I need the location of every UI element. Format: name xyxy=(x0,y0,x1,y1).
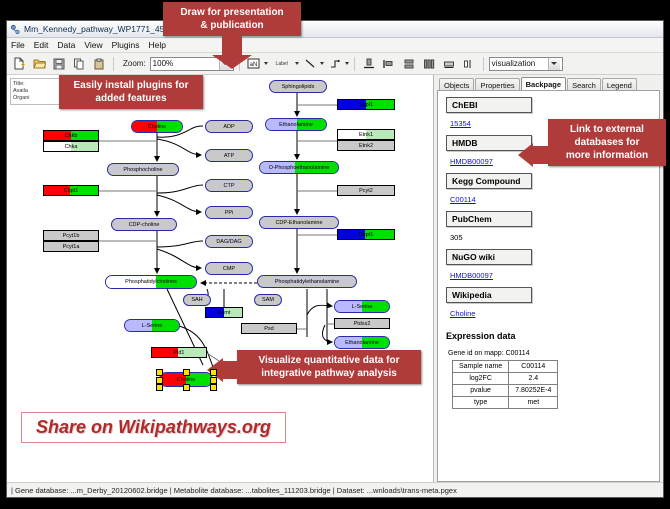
metabolite-node-sah[interactable]: SAH xyxy=(183,294,211,306)
stack-icon[interactable] xyxy=(400,55,418,73)
callout-plugins-line2: added features xyxy=(67,92,195,105)
node-label: Psd xyxy=(264,326,273,332)
callout-plugins-line1: Easily install plugins for xyxy=(67,79,195,92)
gene-node-chkb[interactable]: Chkb xyxy=(43,130,99,141)
gene-id-line: Gene id on mapp: C00114 xyxy=(448,350,653,357)
db-link-wikipedia[interactable]: Choline xyxy=(450,309,475,318)
db-value-pubchem: 305 xyxy=(450,233,463,242)
expr-key-sample-name: Sample name xyxy=(453,361,509,373)
chevron-down-icon[interactable] xyxy=(320,62,324,65)
gene-node-cept1[interactable]: Cept1 xyxy=(337,229,395,240)
distribute-icon[interactable] xyxy=(420,55,438,73)
tab-backpage[interactable]: Backpage xyxy=(521,77,566,91)
toolbar-separator xyxy=(113,57,114,71)
metabolite-node-ppi[interactable]: PPi xyxy=(205,206,253,219)
menu-file[interactable]: File xyxy=(11,40,25,50)
table-row: pvalue 7.80252E-4 xyxy=(453,385,558,397)
gene-node-sgpl1[interactable]: Sgpl1 xyxy=(337,99,395,110)
visualization-value: visualization xyxy=(492,59,548,68)
db-link-kegg[interactable]: C00114 xyxy=(450,195,476,204)
db-link-chebi[interactable]: 15354 xyxy=(450,119,471,128)
node-label: Pcyt1b xyxy=(63,233,80,239)
group-icon[interactable] xyxy=(440,55,458,73)
db-header-chebi: ChEBI xyxy=(446,97,532,113)
node-label: Phosphatidylethanolamine xyxy=(275,279,340,285)
statusbar-text: | Gene database: ...m_Derby_20120602.bri… xyxy=(11,486,457,495)
metabolite-node-o_phosphoethanolamine[interactable]: O-Phosphoethanolamine xyxy=(259,161,339,174)
gene-node-chka[interactable]: Chka xyxy=(43,141,99,152)
toolbar: Zoom: 100% aN Label xyxy=(7,53,663,75)
gene-node-pcyt2[interactable]: Pcyt2 xyxy=(337,185,395,196)
label-icon[interactable]: Label xyxy=(270,55,294,73)
metabolite-node-phosphatidylethanolamine[interactable]: Phosphatidylethanolamine xyxy=(257,275,357,288)
chevron-down-icon[interactable] xyxy=(548,58,560,70)
save-icon[interactable] xyxy=(50,55,68,73)
menu-help[interactable]: Help xyxy=(149,40,166,50)
menu-data[interactable]: Data xyxy=(57,40,75,50)
metabolite-node-cdp_choline[interactable]: CDP-choline xyxy=(111,218,177,231)
node-label: Sphingolipids xyxy=(282,84,315,90)
align-left-icon[interactable] xyxy=(380,55,398,73)
node-label: L-Serine xyxy=(352,304,373,310)
node-label: PPi xyxy=(225,210,234,216)
zoom-value: 100% xyxy=(153,59,219,68)
metabolite-node-sam[interactable]: SAM xyxy=(254,294,282,306)
line-icon[interactable] xyxy=(301,55,319,73)
share-banner-text: Share on Wikipathways.org xyxy=(36,417,271,437)
pathway-canvas[interactable]: Title: Availa Organi xyxy=(7,75,434,482)
gene-node-etnk1[interactable]: Etnk1 xyxy=(337,129,395,140)
selection-handle[interactable] xyxy=(156,384,163,391)
new-file-icon[interactable] xyxy=(10,55,28,73)
node-label: O-Phosphoethanolamine xyxy=(269,165,330,171)
open-folder-icon[interactable] xyxy=(30,55,48,73)
node-label: ATP xyxy=(224,153,234,159)
node-label: Phosphocholine xyxy=(123,167,162,173)
metabolite-node-adp[interactable]: ADP xyxy=(205,120,253,133)
gene-node-ptdss2[interactable]: Ptdss2 xyxy=(334,318,390,329)
table-row: type met xyxy=(453,397,558,409)
selection-handle[interactable] xyxy=(183,384,190,391)
node-label: Choline xyxy=(148,124,167,130)
gene-node-psd[interactable]: Psd xyxy=(241,323,297,334)
metabolite-node-cdp_ethanolamine[interactable]: CDP-Ethanolamine xyxy=(259,216,339,229)
pathvisio-window: Mm_Kennedy_pathway_WP1771_45176.gpml Fil… xyxy=(6,20,664,498)
callout-link-line2: databases for xyxy=(556,136,658,149)
metabolite-node-l_serine_left[interactable]: L-Serine xyxy=(124,319,180,332)
expr-key-log2fc: log2FC xyxy=(453,373,509,385)
selection-handle[interactable] xyxy=(210,377,217,384)
gene-node-pld1[interactable]: Pld1 xyxy=(151,347,207,358)
expr-val-pvalue: 7.80252E-4 xyxy=(509,385,558,397)
paste-icon[interactable] xyxy=(90,55,108,73)
callout-visualize-line2: integrative pathway analysis xyxy=(245,367,413,380)
node-label: Etnk1 xyxy=(359,132,373,138)
menu-view[interactable]: View xyxy=(84,40,102,50)
chevron-down-icon[interactable] xyxy=(295,62,299,65)
connector-icon[interactable] xyxy=(326,55,344,73)
toolbar-separator-3 xyxy=(354,57,355,71)
expr-val-sample-name: C00114 xyxy=(509,361,558,373)
callout-link-line3: more information xyxy=(556,149,658,162)
selection-handle[interactable] xyxy=(156,369,163,376)
gene-node-pcyt1a[interactable]: Pcyt1a xyxy=(43,241,99,252)
gene-node-pemt[interactable]: Pemt xyxy=(205,307,243,318)
node-label: Pld1 xyxy=(173,350,184,356)
chevron-down-icon[interactable] xyxy=(264,62,268,65)
callout-plugins-arrow-shaft xyxy=(115,75,137,77)
selection-handle[interactable] xyxy=(210,384,217,391)
table-row: Sample name C00114 xyxy=(453,361,558,373)
gene-node-pcyt1b[interactable]: Pcyt1b xyxy=(43,230,99,241)
db-link-nugo[interactable]: HMDB00097 xyxy=(450,271,493,280)
callout-draw: Draw for presentation & publication xyxy=(163,2,301,36)
statusbar: | Gene database: ...m_Derby_20120602.bri… xyxy=(7,482,663,497)
menu-edit[interactable]: Edit xyxy=(34,40,49,50)
db-header-pubchem: PubChem xyxy=(446,211,532,227)
visualization-combo[interactable]: visualization xyxy=(489,57,563,71)
metabolite-node-ethanolamine_bottom[interactable]: Ethanolamine xyxy=(334,336,390,349)
callout-draw-line2: & publication xyxy=(171,19,293,32)
label-icon-text: Label xyxy=(276,61,288,67)
node-label: ADP xyxy=(223,124,234,130)
callout-visualize: Visualize quantitative data for integrat… xyxy=(237,350,421,384)
callout-link: Link to external databases for more info… xyxy=(548,119,666,166)
node-label: CDP-Ethanolamine xyxy=(275,220,322,226)
metabolite-node-sphingolipids[interactable]: Sphingolipids xyxy=(269,80,327,93)
node-label: Choline xyxy=(177,377,196,383)
expression-data-heading: Expression data xyxy=(446,331,653,341)
metabolite-node-ctp[interactable]: CTP xyxy=(205,179,253,192)
node-label: SAH xyxy=(191,297,202,303)
menubar: File Edit Data View Plugins Help xyxy=(7,38,663,53)
metabolite-node-choline_top[interactable]: Choline xyxy=(131,120,183,133)
selection-handle[interactable] xyxy=(210,369,217,376)
node-label: DAG/DAG xyxy=(216,239,241,245)
metabolite-node-cmp[interactable]: CMP xyxy=(205,262,253,275)
expr-key-pvalue: pvalue xyxy=(453,385,509,397)
side-panel-tabs: Objects Properties Backpage Search Legen… xyxy=(437,77,660,91)
expr-val-log2fc: 2.4 xyxy=(509,373,558,385)
expression-table: Sample name C00114 log2FC 2.4 pvalue 7.8… xyxy=(452,360,558,409)
selection-handle[interactable] xyxy=(156,377,163,384)
node-label: Cept1 xyxy=(359,232,374,238)
node-label: Etnk2 xyxy=(359,143,373,149)
callout-link-line1: Link to external xyxy=(556,123,658,136)
node-label: Phosphatidylcholines xyxy=(125,279,177,285)
metabolite-node-l_serine_right[interactable]: L-Serine xyxy=(334,300,390,313)
metabolite-node-phosphatidylcholines[interactable]: Phosphatidylcholines xyxy=(105,275,197,289)
label-dropdown[interactable]: Label xyxy=(270,55,299,73)
node-label: Chka xyxy=(65,144,78,150)
expr-key-type: type xyxy=(453,397,509,409)
node-label: CTP xyxy=(224,183,235,189)
node-label: Chpt1 xyxy=(64,188,79,194)
gene-node-chpt1[interactable]: Chpt1 xyxy=(43,185,99,196)
node-label: SAM xyxy=(262,297,274,303)
callout-draw-line1: Draw for presentation xyxy=(171,6,293,19)
screenshot-root: Mm_Kennedy_pathway_WP1771_45176.gpml Fil… xyxy=(0,0,670,509)
selection-handle[interactable] xyxy=(183,369,190,376)
chevron-down-icon[interactable] xyxy=(345,62,349,65)
node-label: Ptdss2 xyxy=(354,321,371,327)
callout-visualize-arrow-shaft xyxy=(221,361,241,379)
node-label: Ethanolamine xyxy=(345,340,379,346)
align-bottom-icon[interactable] xyxy=(360,55,378,73)
metabolite-node-phosphocholine[interactable]: Phosphocholine xyxy=(107,163,179,176)
metabolite-node-atp[interactable]: ATP xyxy=(205,149,253,162)
connector-dropdown[interactable] xyxy=(326,55,349,73)
node-label: L-Serine xyxy=(142,323,163,329)
window-titlebar: Mm_Kennedy_pathway_WP1771_45176.gpml xyxy=(7,21,663,38)
node-label: Pcyt1a xyxy=(63,244,80,250)
node-label: CMP xyxy=(223,266,235,272)
expr-val-type: met xyxy=(509,397,558,409)
ungroup-icon[interactable] xyxy=(460,55,478,73)
share-banner: Share on Wikipathways.org xyxy=(21,412,286,443)
node-label: CDP-choline xyxy=(129,222,160,228)
db-header-kegg: Kegg Compound xyxy=(446,173,532,189)
gene-node-etnk2[interactable]: Etnk2 xyxy=(337,140,395,151)
callout-draw-arrow-head xyxy=(212,55,252,69)
db-header-nugo: NuGO wiki xyxy=(446,249,532,265)
callout-link-arrow-head xyxy=(518,143,533,167)
metabolite-node-ethanolamine_top[interactable]: Ethanolamine xyxy=(265,118,327,131)
node-label: Ethanolamine xyxy=(279,122,313,128)
pathvisio-icon xyxy=(10,24,20,34)
callout-draw-arrow-shaft xyxy=(222,36,242,56)
node-label: Chkb xyxy=(65,133,78,139)
callout-plugins: Easily install plugins for added feature… xyxy=(59,75,203,109)
node-label: Pemt xyxy=(218,310,231,316)
callout-link-arrow-shaft xyxy=(532,146,552,164)
menu-plugins[interactable]: Plugins xyxy=(112,40,140,50)
toolbar-separator-4 xyxy=(483,57,484,71)
metabolite-node-dagdag[interactable]: DAG/DAG xyxy=(205,235,253,248)
db-link-hmdb[interactable]: HMDB00097 xyxy=(450,157,493,166)
line-dropdown[interactable] xyxy=(301,55,324,73)
table-row: log2FC 2.4 xyxy=(453,373,558,385)
copy-icon[interactable] xyxy=(70,55,88,73)
callout-visualize-line1: Visualize quantitative data for xyxy=(245,354,413,367)
node-label: Sgpl1 xyxy=(359,102,373,108)
db-header-wikipedia: Wikipedia xyxy=(446,287,532,303)
node-label: Pcyt2 xyxy=(359,188,373,194)
zoom-label: Zoom: xyxy=(123,59,146,68)
